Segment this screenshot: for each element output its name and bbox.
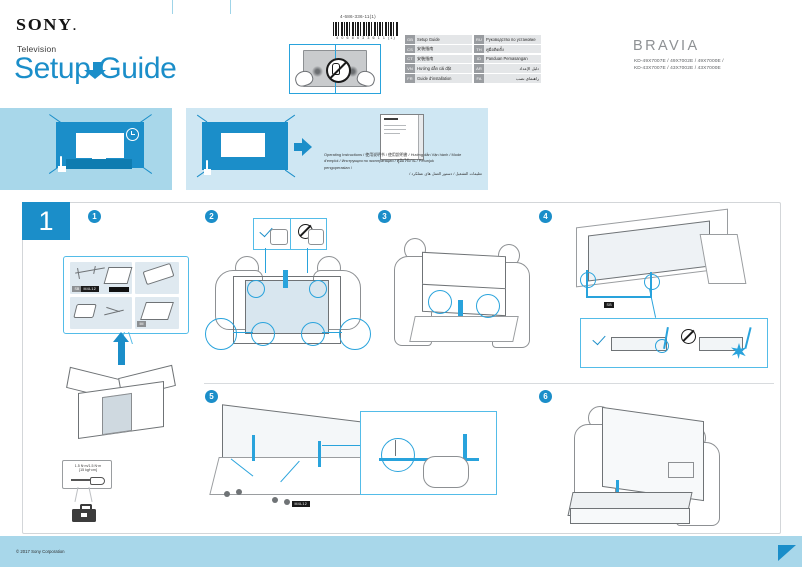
stand-wrong bbox=[744, 327, 751, 349]
clock-icon bbox=[126, 128, 139, 141]
stand-part-shape bbox=[77, 268, 80, 279]
step6-illustration bbox=[560, 400, 775, 530]
barcode bbox=[333, 22, 398, 36]
language-name: 安裝指南 bbox=[415, 55, 472, 64]
callout-line bbox=[265, 248, 266, 273]
language-code: FR bbox=[405, 74, 415, 83]
section-divider bbox=[204, 383, 774, 384]
lift-arrow bbox=[458, 300, 463, 316]
carton-contents bbox=[102, 393, 132, 435]
language-name: دليل الإعداد bbox=[484, 64, 541, 73]
sony-logo: SONY. bbox=[16, 15, 78, 35]
language-name: Руководство по установке bbox=[484, 35, 541, 44]
torque-line-2: {15 kgf·cm} bbox=[66, 468, 110, 473]
accessory-cell-stand-screws: SB M4L12 bbox=[70, 262, 132, 294]
language-row: THคู่มือติดตั้ง bbox=[474, 45, 541, 54]
insert-circle-right bbox=[644, 274, 660, 290]
language-code: TH bbox=[474, 45, 484, 54]
accessory-black-bar bbox=[109, 287, 129, 292]
room-corner bbox=[285, 169, 296, 177]
language-code: CT bbox=[405, 55, 415, 64]
ac-adapter-shape bbox=[73, 304, 96, 318]
toolbox-latch bbox=[81, 513, 87, 517]
booklet-line bbox=[384, 133, 400, 134]
callout-connector bbox=[233, 332, 253, 333]
packaging-base bbox=[409, 316, 519, 342]
remote-control-shape bbox=[143, 263, 175, 285]
cabinet-illustration bbox=[66, 159, 132, 169]
furniture-stand-front bbox=[570, 508, 690, 524]
step2-hand-position-box bbox=[253, 218, 327, 250]
down-arrow-icon bbox=[84, 70, 106, 79]
check-icon bbox=[592, 332, 605, 346]
language-name: Hướng dẫn cài đặt bbox=[415, 64, 472, 73]
bravia-logo: BRAVIA bbox=[633, 38, 700, 54]
setup-guide-page: SONY. Television Setup Guide 4-686-336-1… bbox=[0, 0, 802, 567]
screw-detail bbox=[395, 440, 396, 456]
table-surface bbox=[209, 457, 370, 495]
step-marker-5: 5 bbox=[205, 390, 218, 403]
callout-line bbox=[649, 288, 656, 318]
booklet-line bbox=[384, 129, 406, 130]
language-code: FA bbox=[474, 74, 484, 83]
tv-illustration bbox=[75, 132, 125, 159]
tv-vesa-mount bbox=[668, 462, 694, 478]
step-marker-1: 1 bbox=[88, 210, 101, 223]
hand-detail-circle bbox=[301, 322, 325, 346]
manual-lang-line-rtl: تعليمات التشغيل / دستور العمل های عملکرد… bbox=[324, 171, 482, 177]
toolbox-icon bbox=[72, 504, 96, 522]
language-row: FAراهنمای نصب bbox=[474, 74, 541, 83]
up-arrow-icon bbox=[118, 341, 125, 365]
step5-detail-box bbox=[360, 411, 497, 495]
detail-circle bbox=[655, 339, 669, 353]
callout-line bbox=[307, 248, 308, 273]
sony-wordmark: SONY bbox=[16, 15, 73, 34]
crop-mark bbox=[172, 0, 173, 14]
accessory-cell-remote bbox=[135, 262, 179, 294]
barcode-digits: 4 0 6 8 6 3 3 6 1 1 (1) bbox=[333, 36, 399, 40]
grip-circle-right bbox=[476, 294, 500, 318]
language-row: FRGuide d'installation bbox=[405, 74, 472, 83]
language-name: Guide d'installation bbox=[415, 74, 472, 83]
language-code: ID bbox=[474, 55, 484, 64]
screwdriver-grip bbox=[90, 477, 105, 485]
copyright-text: © 2017 Sony Corporation bbox=[16, 549, 65, 554]
prohibition-icon bbox=[681, 329, 696, 344]
hand-detail-circle bbox=[205, 318, 237, 350]
step-marker-6: 6 bbox=[539, 390, 552, 403]
press-mark-left bbox=[312, 66, 323, 77]
language-name: Panduan Pemasangan bbox=[484, 55, 541, 64]
document-shape bbox=[140, 302, 174, 320]
hand-grip-bad bbox=[308, 229, 324, 245]
room-corner bbox=[140, 114, 152, 123]
crop-mark bbox=[230, 0, 231, 14]
right-arrow-icon bbox=[302, 138, 312, 156]
language-code: GB bbox=[405, 35, 415, 44]
box-divider bbox=[290, 219, 291, 249]
language-row: ARدليل الإعداد bbox=[474, 64, 541, 73]
tv-illustration bbox=[220, 132, 266, 158]
screw-icon bbox=[224, 491, 230, 497]
language-row: IDPanduan Pemasangan bbox=[474, 55, 541, 64]
model-line-1: KD-49X7007E / 49X7002E / 49X7000E / bbox=[634, 58, 724, 65]
language-column-left: GBSetup Guide CS安装指南 CT安裝指南 VNHướng dẫn … bbox=[405, 35, 472, 83]
grip-circle-left bbox=[428, 290, 452, 314]
stand-part-label: SB bbox=[604, 302, 614, 308]
stand-leg-left bbox=[252, 435, 255, 461]
accessory-cell-adapter bbox=[70, 297, 132, 329]
hand-detail-circle bbox=[247, 280, 265, 298]
booklet-line bbox=[384, 125, 406, 126]
language-row: CT安裝指南 bbox=[405, 55, 472, 64]
carton-illustration bbox=[68, 365, 178, 437]
do-not-touch-screen-icon bbox=[289, 44, 381, 94]
detail-circle bbox=[381, 438, 415, 472]
hand-detail-circle bbox=[309, 280, 327, 298]
step5-illustration: M4L12 bbox=[210, 405, 510, 525]
plant-icon bbox=[202, 158, 213, 175]
insert-circle-left bbox=[580, 272, 596, 288]
footer-band bbox=[0, 536, 802, 567]
hand-detail-circle bbox=[251, 322, 275, 346]
torque-spec-box: 1.5 N·m/1.5 N·m {15 kgf·cm} bbox=[62, 460, 112, 489]
language-name: คู่มือติดตั้ง bbox=[484, 45, 541, 54]
screwdriver-shaft bbox=[71, 479, 91, 480]
screw-icon bbox=[236, 489, 242, 495]
section-number-badge: 1 bbox=[22, 202, 70, 240]
room-corner bbox=[140, 165, 152, 174]
step4-illustration: SB bbox=[548, 214, 778, 374]
callout-connector bbox=[322, 332, 342, 333]
step4-comparison-box bbox=[580, 318, 768, 368]
language-code: VN bbox=[405, 64, 415, 73]
step-marker-3: 3 bbox=[378, 210, 391, 223]
screw-bag bbox=[104, 267, 133, 284]
finger-icon bbox=[332, 63, 340, 75]
plant-leaf bbox=[60, 156, 62, 167]
booklet-title-bar bbox=[384, 118, 398, 120]
accessory-grid: SB M4L12 IM bbox=[70, 262, 179, 329]
banner-left-panel bbox=[0, 108, 172, 190]
hand-grip-ok bbox=[270, 229, 288, 245]
language-row: CS安装指南 bbox=[405, 45, 472, 54]
plant-pot bbox=[58, 166, 66, 172]
step3-illustration bbox=[388, 228, 538, 368]
plant-icon bbox=[56, 154, 68, 172]
room-corner bbox=[49, 114, 61, 123]
model-line-2: KD-43X7007E / 43X7002E / 43X7000E bbox=[634, 65, 724, 72]
accessory-panel: SB M4L12 IM bbox=[63, 256, 189, 334]
language-name: راهنمای نصب bbox=[484, 74, 541, 83]
language-name: Setup Guide bbox=[415, 35, 472, 44]
accessory-screw-label: M4L12 bbox=[81, 286, 99, 292]
step2-illustration bbox=[205, 218, 375, 368]
screw-icon bbox=[284, 499, 290, 505]
language-row: RUРуководство по установке bbox=[474, 35, 541, 44]
hand-illustration bbox=[423, 456, 469, 488]
corner-wedge-mark bbox=[778, 545, 796, 561]
language-code: CS bbox=[405, 45, 415, 54]
torque-spec-text: 1.5 N·m/1.5 N·m {15 kgf·cm} bbox=[66, 464, 110, 474]
accessory-label-im: IM bbox=[137, 321, 146, 327]
stand-bar bbox=[586, 296, 652, 298]
accessory-cell-documents: IM bbox=[135, 297, 179, 329]
model-numbers: KD-49X7007E / 49X7002E / 49X7000E / KD-4… bbox=[634, 58, 724, 73]
cloth-drape bbox=[700, 234, 747, 284]
lift-arrow bbox=[283, 270, 288, 288]
language-row: VNHướng dẫn cài đặt bbox=[405, 64, 472, 73]
language-table: GBSetup Guide CS安装指南 CT安裝指南 VNHướng dẫn … bbox=[405, 35, 541, 83]
stand-leg-right bbox=[318, 441, 321, 467]
language-column-right: RUРуководство по установке THคู่มือติดตั… bbox=[474, 35, 541, 83]
callout-connector bbox=[322, 445, 360, 446]
sony-logo-dot: . bbox=[73, 19, 78, 33]
stand-part-shape bbox=[75, 267, 105, 273]
part-number: 4-686-336-11(1) bbox=[340, 14, 376, 19]
language-row: GBSetup Guide bbox=[405, 35, 472, 44]
manual-languages-text: Operating Instructions / 使用说明书 / 使用說明書 /… bbox=[324, 152, 482, 177]
hand-detail-circle bbox=[339, 318, 371, 350]
language-code: AR bbox=[474, 64, 484, 73]
screw-type-label: M4L12 bbox=[292, 501, 310, 507]
screwdriver-icon bbox=[69, 476, 105, 484]
plant-pot bbox=[204, 169, 211, 175]
room-illustration bbox=[48, 118, 153, 176]
screw-icon bbox=[272, 497, 278, 503]
language-name: 安装指南 bbox=[415, 45, 472, 54]
plant-leaf bbox=[206, 160, 208, 170]
language-code: RU bbox=[474, 35, 484, 44]
room-illustration-2 bbox=[196, 118, 296, 178]
